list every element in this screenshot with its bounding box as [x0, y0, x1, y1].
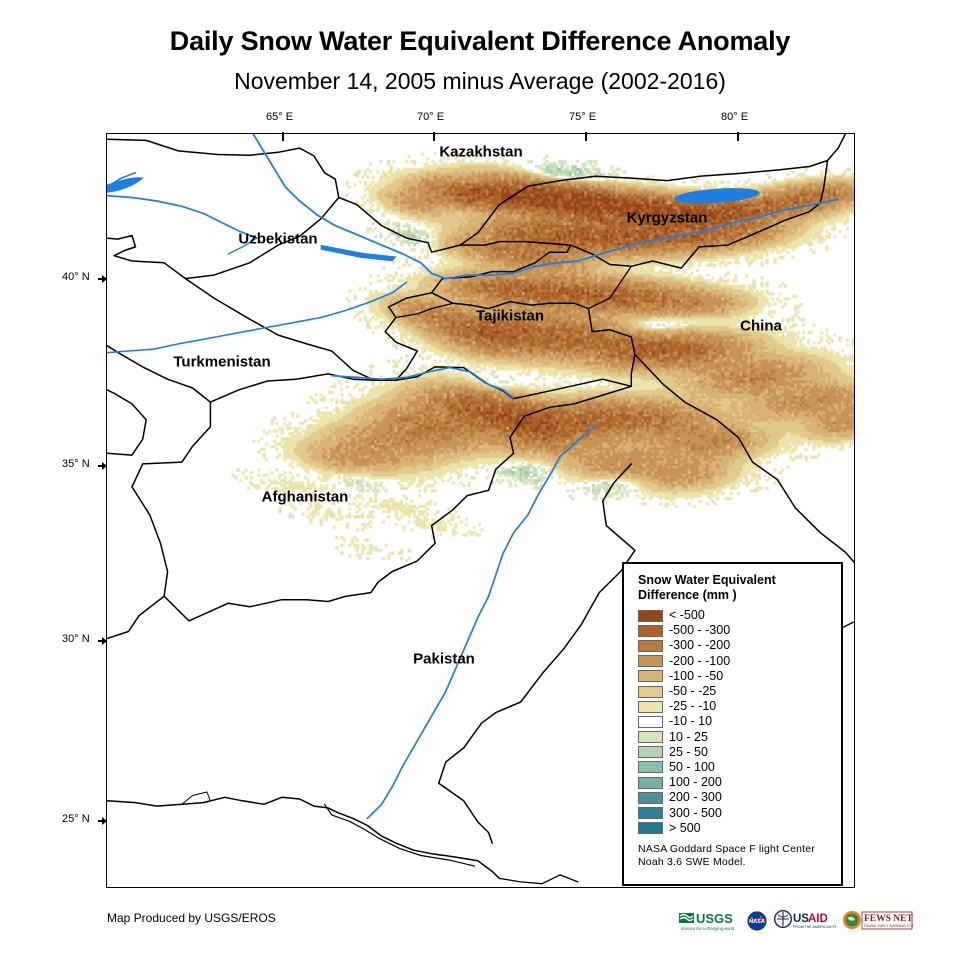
country-label-turkmenistan: Turkmenistan: [173, 354, 270, 371]
legend-note-line1: NASA Goddard Space F light Center: [638, 843, 841, 856]
legend-class-row: 200 - 300: [638, 790, 841, 805]
country-label-kazakhstan: Kazakhstan: [439, 144, 522, 161]
legend-class-row: -500 - -300: [638, 623, 841, 638]
lon-tick-label: 80° E: [721, 111, 748, 123]
legend-note: NASA Goddard Space F light Center Noah 3…: [638, 843, 841, 869]
lat-tick-label: 40° N: [62, 271, 90, 283]
lon-tick-mark: [585, 132, 587, 141]
legend-color-swatch: [638, 670, 663, 682]
legend-class-label: -25 - -10: [669, 700, 716, 713]
country-label-tajikistan: Tajikistan: [476, 308, 544, 325]
svg-text:FAMINE EARLY WARNING SYSTEMS N: FAMINE EARLY WARNING SYSTEMS NETWORK: [864, 924, 914, 928]
country-label-kyrgyzstan: Kyrgyzstan: [627, 210, 708, 227]
lat-tick-label: 30° N: [62, 633, 90, 645]
country-label-pakistan: Pakistan: [413, 651, 475, 668]
coastline: [107, 797, 499, 878]
river-amu-darya: [332, 368, 514, 398]
legend-class-label: 100 - 200: [669, 776, 722, 789]
lon-tick-mark: [282, 132, 284, 141]
lat-tick-arrow: [102, 275, 107, 283]
legend-class-row: 25 - 50: [638, 745, 841, 760]
legend-title: Snow Water Equivalent Difference (mm ): [638, 573, 833, 603]
river-indus: [367, 425, 595, 818]
svg-text:NASA: NASA: [749, 919, 765, 925]
legend-class-row: 50 - 100: [638, 760, 841, 775]
legend-class-label: -50 - -25: [669, 685, 716, 698]
lon-tick-label: 70° E: [417, 111, 444, 123]
lon-tick-label: 65° E: [266, 111, 293, 123]
svg-text:AID: AID: [808, 913, 828, 925]
legend-class-row: 10 - 25: [638, 730, 841, 745]
svg-text:science for a changing world: science for a changing world: [681, 926, 735, 931]
legend-color-swatch: [638, 731, 663, 743]
legend-class-label: 300 - 500: [669, 807, 722, 820]
border-afgh-tajik: [210, 367, 631, 402]
legend-color-swatch: [638, 792, 663, 804]
river-zeravshan: [107, 282, 407, 353]
legend-class-label: 10 - 25: [669, 731, 708, 744]
legend-class-label: > 500: [669, 822, 701, 835]
legend-class-row: -10 - 10: [638, 714, 841, 729]
legend-class-label: 200 - 300: [669, 791, 722, 804]
legend-color-swatch: [638, 822, 663, 834]
legend-color-swatch: [638, 807, 663, 819]
legend-class-label: < -500: [669, 609, 705, 622]
legend-color-swatch: [638, 686, 663, 698]
legend-color-swatch: [638, 655, 663, 667]
lat-tick-arrow: [102, 637, 107, 645]
legend-class-label: -500 - -300: [669, 624, 730, 637]
border-china-south: [635, 355, 855, 565]
lat-tick-label: 25° N: [62, 813, 90, 825]
legend-class-row: < -500: [638, 608, 841, 623]
border-afgh-iran: [107, 346, 210, 639]
usaid-logo: US AID FROM THE AMERICAN PEOPLE: [774, 910, 836, 932]
legend-color-swatch: [638, 640, 663, 652]
agency-logos: USGS science for a changing world NASA U…: [678, 906, 914, 936]
country-label-china: China: [740, 318, 782, 335]
lake-aral: [107, 178, 143, 192]
border-turkmen-iran: [107, 390, 146, 455]
legend-panel: Snow Water Equivalent Difference (mm ) <…: [622, 562, 843, 886]
svg-text:USGS: USGS: [696, 911, 733, 926]
legend-note-line2: Noah 3.6 SWE Model.: [638, 856, 841, 869]
lon-tick-mark: [433, 132, 435, 141]
country-label-uzbekistan: Uzbekistan: [238, 231, 317, 248]
border-india-gujarat: [499, 875, 578, 884]
lon-tick-mark: [737, 132, 739, 141]
legend-class-label: -200 - -100: [669, 655, 730, 668]
lat-tick-label: 35° N: [62, 458, 90, 470]
legend-color-swatch: [638, 625, 663, 637]
legend-color-swatch: [638, 701, 663, 713]
legend-class-row: -200 - -100: [638, 654, 841, 669]
legend-color-swatch: [638, 761, 663, 773]
legend-title-line1: Snow Water Equivalent: [638, 573, 833, 588]
border-tajik-inner: [396, 303, 453, 317]
svg-text:US: US: [793, 913, 809, 925]
legend-class-list: < -500-500 - -300-300 - -200-200 - -100-…: [638, 608, 841, 836]
river-amudarya-lower: [107, 196, 257, 238]
legend-class-label: -100 - -50: [669, 670, 723, 683]
lon-tick-label: 75° E: [569, 111, 596, 123]
svg-text:FEWS NET: FEWS NET: [864, 914, 913, 924]
legend-class-row: -50 - -25: [638, 684, 841, 699]
river-naryn: [578, 199, 838, 261]
legend-class-row: -100 - -50: [638, 669, 841, 684]
legend-class-row: 100 - 200: [638, 775, 841, 790]
legend-class-label: -300 - -200: [669, 639, 730, 652]
fewsnet-logo: FEWS NET FAMINE EARLY WARNING SYSTEMS NE…: [842, 910, 914, 932]
lat-tick-arrow: [102, 462, 107, 470]
country-label-afghanistan: Afghanistan: [262, 489, 349, 506]
border-tajik-china: [589, 266, 632, 308]
page-title: Daily Snow Water Equivalent Difference A…: [0, 26, 960, 57]
lake-aydar: [321, 245, 396, 261]
map-credit: Map Produced by USGS/EROS: [107, 911, 276, 925]
page-subtitle: November 14, 2005 minus Average (2002-20…: [0, 68, 960, 95]
legend-color-swatch: [638, 777, 663, 789]
legend-class-row: -300 - -200: [638, 638, 841, 653]
legend-class-row: -25 - -10: [638, 699, 841, 714]
usgs-logo: USGS science for a changing world: [678, 910, 740, 932]
border-afgh-pak: [164, 386, 631, 621]
lake-issyk-kul: [674, 186, 760, 206]
legend-class-row: 300 - 500: [638, 805, 841, 820]
nasa-logo: NASA: [746, 910, 768, 932]
legend-color-swatch: [638, 610, 663, 622]
legend-class-label: 50 - 100: [669, 761, 715, 774]
legend-class-label: 25 - 50: [669, 746, 708, 759]
river-syr-darya: [253, 134, 578, 279]
legend-color-swatch: [638, 746, 663, 758]
legend-class-label: -10 - 10: [669, 715, 712, 728]
svg-text:FROM THE AMERICAN PEOPLE: FROM THE AMERICAN PEOPLE: [793, 925, 836, 929]
lat-tick-arrow: [102, 817, 107, 825]
legend-color-swatch: [638, 716, 663, 728]
legend-title-line2: Difference (mm ): [638, 588, 833, 603]
legend-class-row: > 500: [638, 821, 841, 836]
